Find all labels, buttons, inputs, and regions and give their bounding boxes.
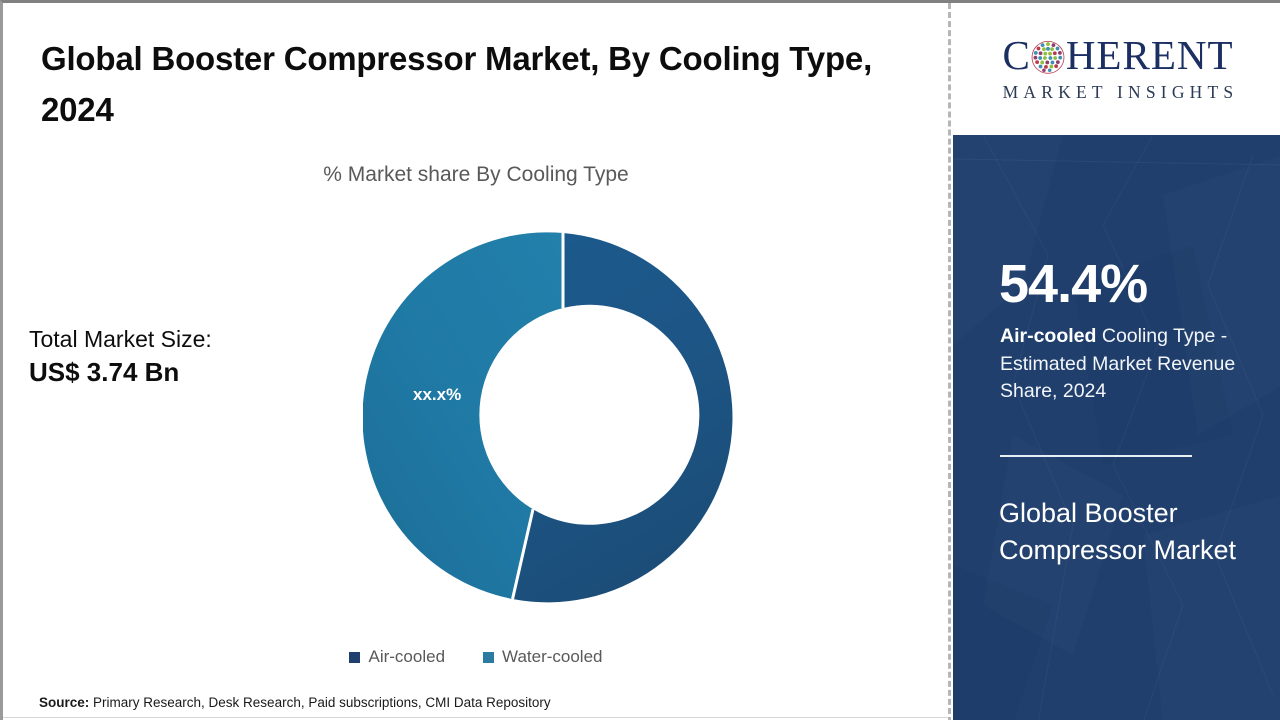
legend-item-water-cooled[interactable]: Water-cooled (483, 647, 602, 667)
chart-legend: Air-cooled Water-cooled (3, 647, 949, 667)
legend-label-air-cooled: Air-cooled (368, 647, 445, 667)
main-panel: Global Booster Compressor Market, By Coo… (3, 3, 949, 720)
sidebar-divider (1000, 455, 1192, 457)
footer-divider (3, 717, 949, 718)
total-market-size-value: US$ 3.74 Bn (29, 356, 329, 390)
page-title: Global Booster Compressor Market, By Coo… (41, 33, 911, 135)
logo-block: C (953, 3, 1280, 135)
source-line: Source: Primary Research, Desk Research,… (39, 695, 551, 710)
donut-label-water-cooled: xx.x% (413, 385, 461, 404)
total-market-size-block: Total Market Size: US$ 3.74 Bn (29, 325, 329, 390)
legend-swatch-icon (483, 652, 494, 663)
source-prefix: Source: (39, 695, 89, 710)
panel-divider (948, 3, 951, 720)
donut-chart: 54.4% xx.x% (363, 218, 763, 618)
total-market-size-label: Total Market Size: (29, 325, 329, 354)
logo-wordmark: C (1002, 35, 1233, 76)
source-text: Primary Research, Desk Research, Paid su… (89, 695, 550, 710)
stat-percentage: 54.4% (999, 257, 1147, 311)
legend-label-water-cooled: Water-cooled (502, 647, 602, 667)
donut-chart-svg: 54.4% xx.x% (363, 218, 763, 618)
sidebar-texture (953, 135, 1280, 720)
logo-subtitle: MARKET INSIGHTS (998, 82, 1239, 103)
stat-emphasis: Air-cooled (1000, 325, 1096, 347)
sidebar-market-name: Global Booster Compressor Market (999, 495, 1249, 569)
sidebar-body: 54.4% Air-cooled Cooling Type - Estimate… (953, 135, 1280, 720)
logo-word-before: C (1002, 35, 1030, 76)
chart-subtitle: % Market share By Cooling Type (3, 163, 949, 187)
infographic-page: Global Booster Compressor Market, By Coo… (0, 0, 1280, 720)
stat-description: Air-cooled Cooling Type - Estimated Mark… (1000, 323, 1262, 406)
legend-swatch-icon (349, 652, 360, 663)
sidebar: C (953, 3, 1280, 720)
globe-dots-icon (1031, 40, 1065, 74)
legend-item-air-cooled[interactable]: Air-cooled (349, 647, 445, 667)
logo-word-after: HERENT (1066, 35, 1234, 76)
